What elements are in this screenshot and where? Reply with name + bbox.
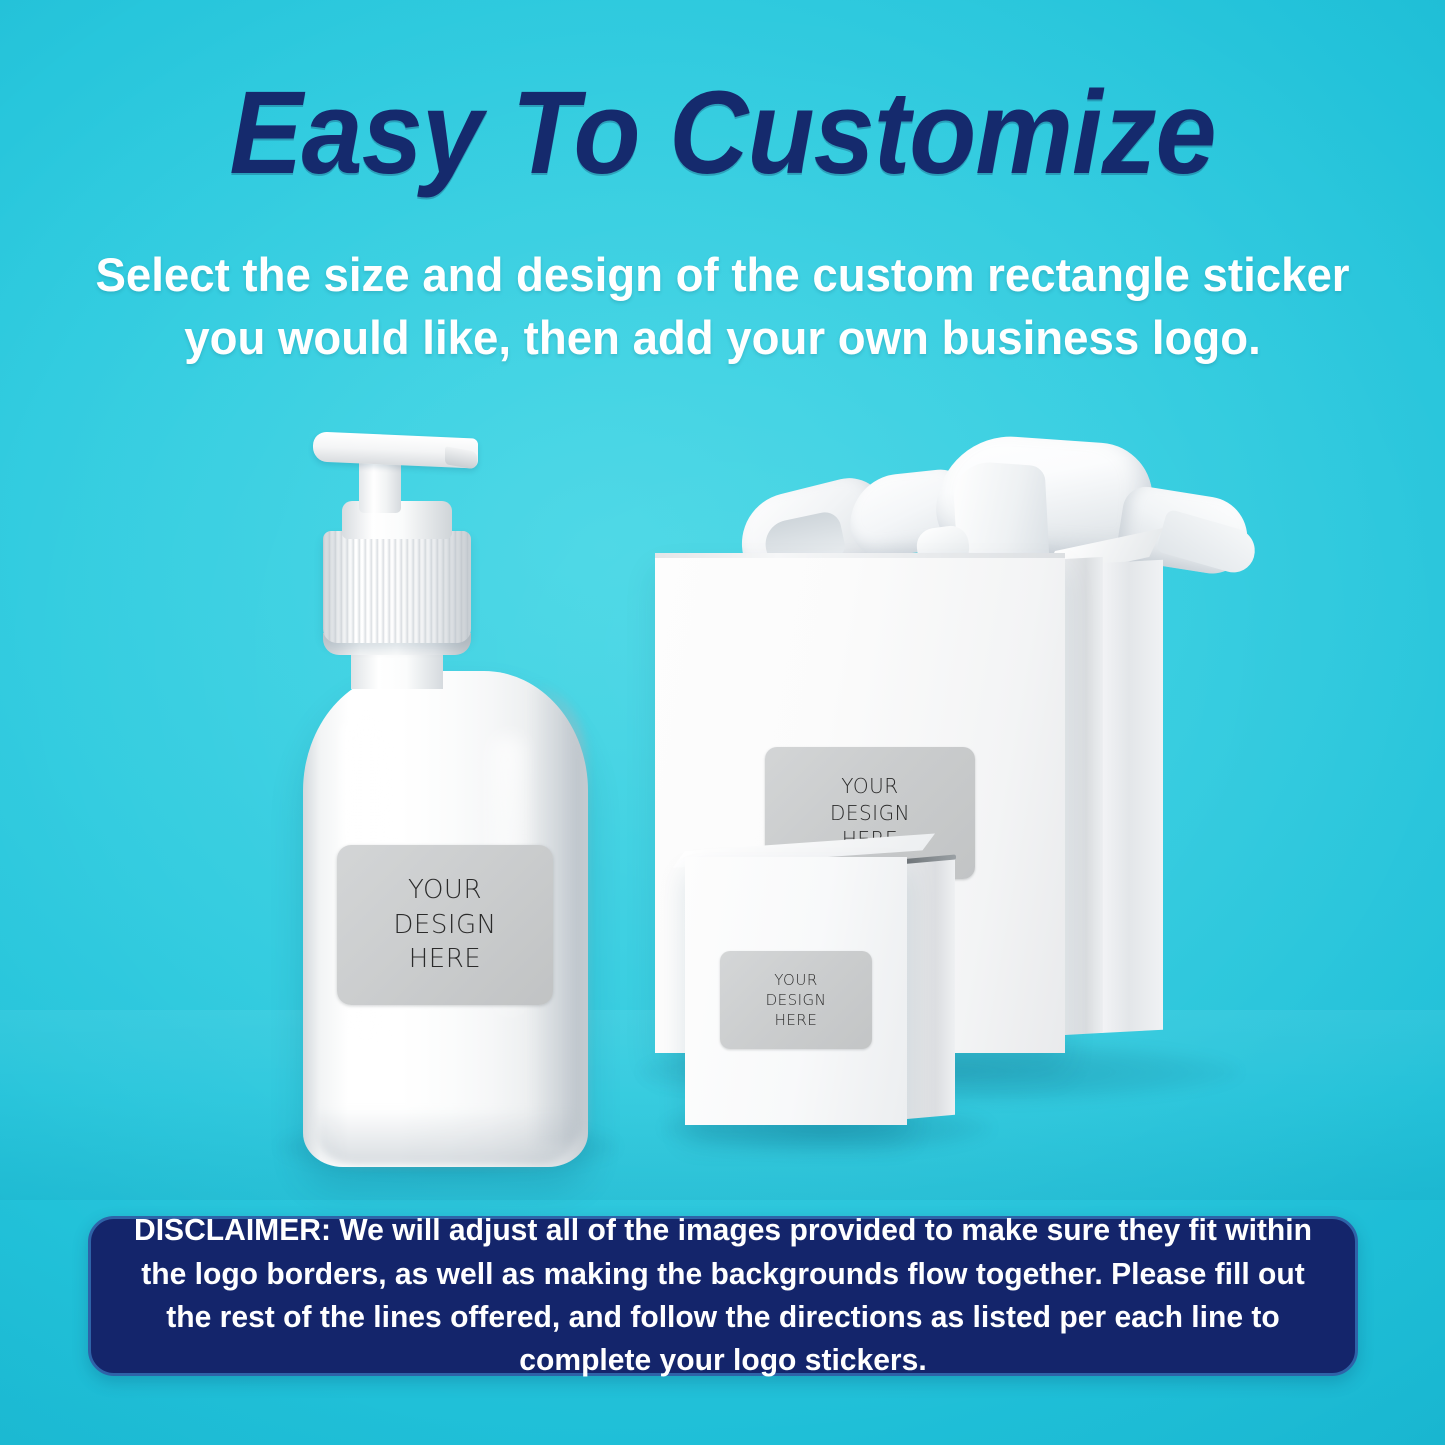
sticker-line-1: YOUR (393, 873, 496, 908)
small-box-side-face (907, 859, 955, 1119)
small-box-sticker: YOUR DESIGN HERE (720, 951, 872, 1049)
bottle-neck (351, 649, 443, 689)
bottle-base-shading (317, 1107, 575, 1165)
pump-bottle: YOUR DESIGN HERE (295, 435, 595, 1165)
sticker-line-3: HERE (393, 942, 496, 977)
disclaimer-text: DISCLAIMER: We will adjust all of the im… (134, 1209, 1312, 1382)
disclaimer-label: DISCLAIMER: (134, 1213, 331, 1247)
sticker-line-2: DESIGN (766, 990, 827, 1010)
gift-box-front-top-edge (655, 553, 1065, 558)
sticker-line-2: DESIGN (393, 908, 496, 943)
sticker-line-1: YOUR (830, 773, 910, 800)
small-box: YOUR DESIGN HERE (685, 845, 955, 1135)
gift-box-lid-side (1101, 560, 1163, 1033)
sticker-line-3: HERE (766, 1010, 827, 1030)
gift-box-side-face (1065, 557, 1103, 1035)
disclaimer-banner: DISCLAIMER: We will adjust all of the im… (88, 1216, 1358, 1376)
pump-collar-ribbed (323, 531, 471, 643)
bottle-sticker: YOUR DESIGN HERE (337, 845, 553, 1005)
page-title: Easy To Customize (51, 72, 1395, 196)
bottle-sticker-text: YOUR DESIGN HERE (393, 873, 496, 977)
small-box-sticker-text: YOUR DESIGN HERE (766, 970, 827, 1030)
sticker-line-2: DESIGN (830, 800, 910, 827)
product-scene: YOUR DESIGN HERE YOUR DESIGN HERE (0, 380, 1445, 1200)
sticker-line-1: YOUR (766, 970, 827, 990)
page-subtitle: Select the size and design of the custom… (92, 244, 1354, 369)
